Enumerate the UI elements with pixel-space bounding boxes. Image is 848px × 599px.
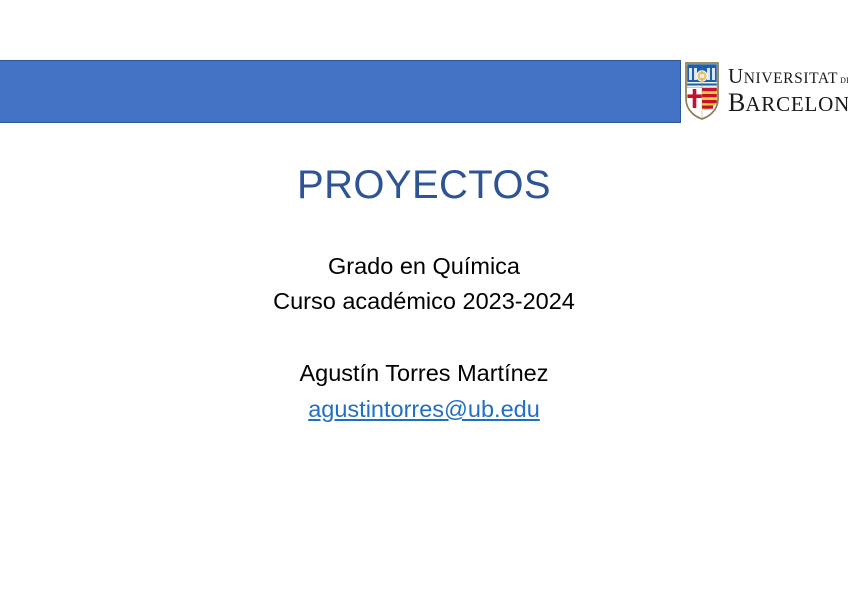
ub-wordmark-line-universitat: UNIVERSITATDE xyxy=(728,66,848,87)
author-block: Agustín Torres Martínez agustintorres@ub… xyxy=(0,355,848,427)
ub-universitat-rest: NIVERSITAT xyxy=(744,71,838,87)
ub-wordmark-line-barcelona: BARCELONA xyxy=(728,90,848,116)
subtitle-block: Grado en Química Curso académico 2023-20… xyxy=(0,249,848,319)
email-link[interactable]: agustintorres@ub.edu xyxy=(308,391,540,427)
ub-logo: UNIVERSITATDE BARCELONA xyxy=(684,58,848,124)
slide-canvas: Proyectos – Dr. Agustín Torres Martínez xyxy=(0,0,848,599)
header-band xyxy=(0,60,681,123)
author-email-row: agustintorres@ub.edu xyxy=(0,391,848,427)
ub-barcelona-rest: ARCELONA xyxy=(745,94,848,115)
page-title: PROYECTOS xyxy=(0,163,848,208)
author-name: Agustín Torres Martínez xyxy=(0,355,848,391)
academic-year-line: Curso académico 2023-2024 xyxy=(0,284,848,319)
ub-crest-icon xyxy=(684,61,720,121)
ub-barcelona-initial: B xyxy=(728,90,745,116)
header-title: Proyectos – Dr. Agustín Torres Martínez xyxy=(0,0,848,63)
ub-universitat-initial: U xyxy=(728,66,744,87)
ub-wordmark: UNIVERSITATDE BARCELONA xyxy=(728,66,848,116)
degree-line: Grado en Química xyxy=(0,249,848,284)
ub-de-text: DE xyxy=(840,77,848,85)
